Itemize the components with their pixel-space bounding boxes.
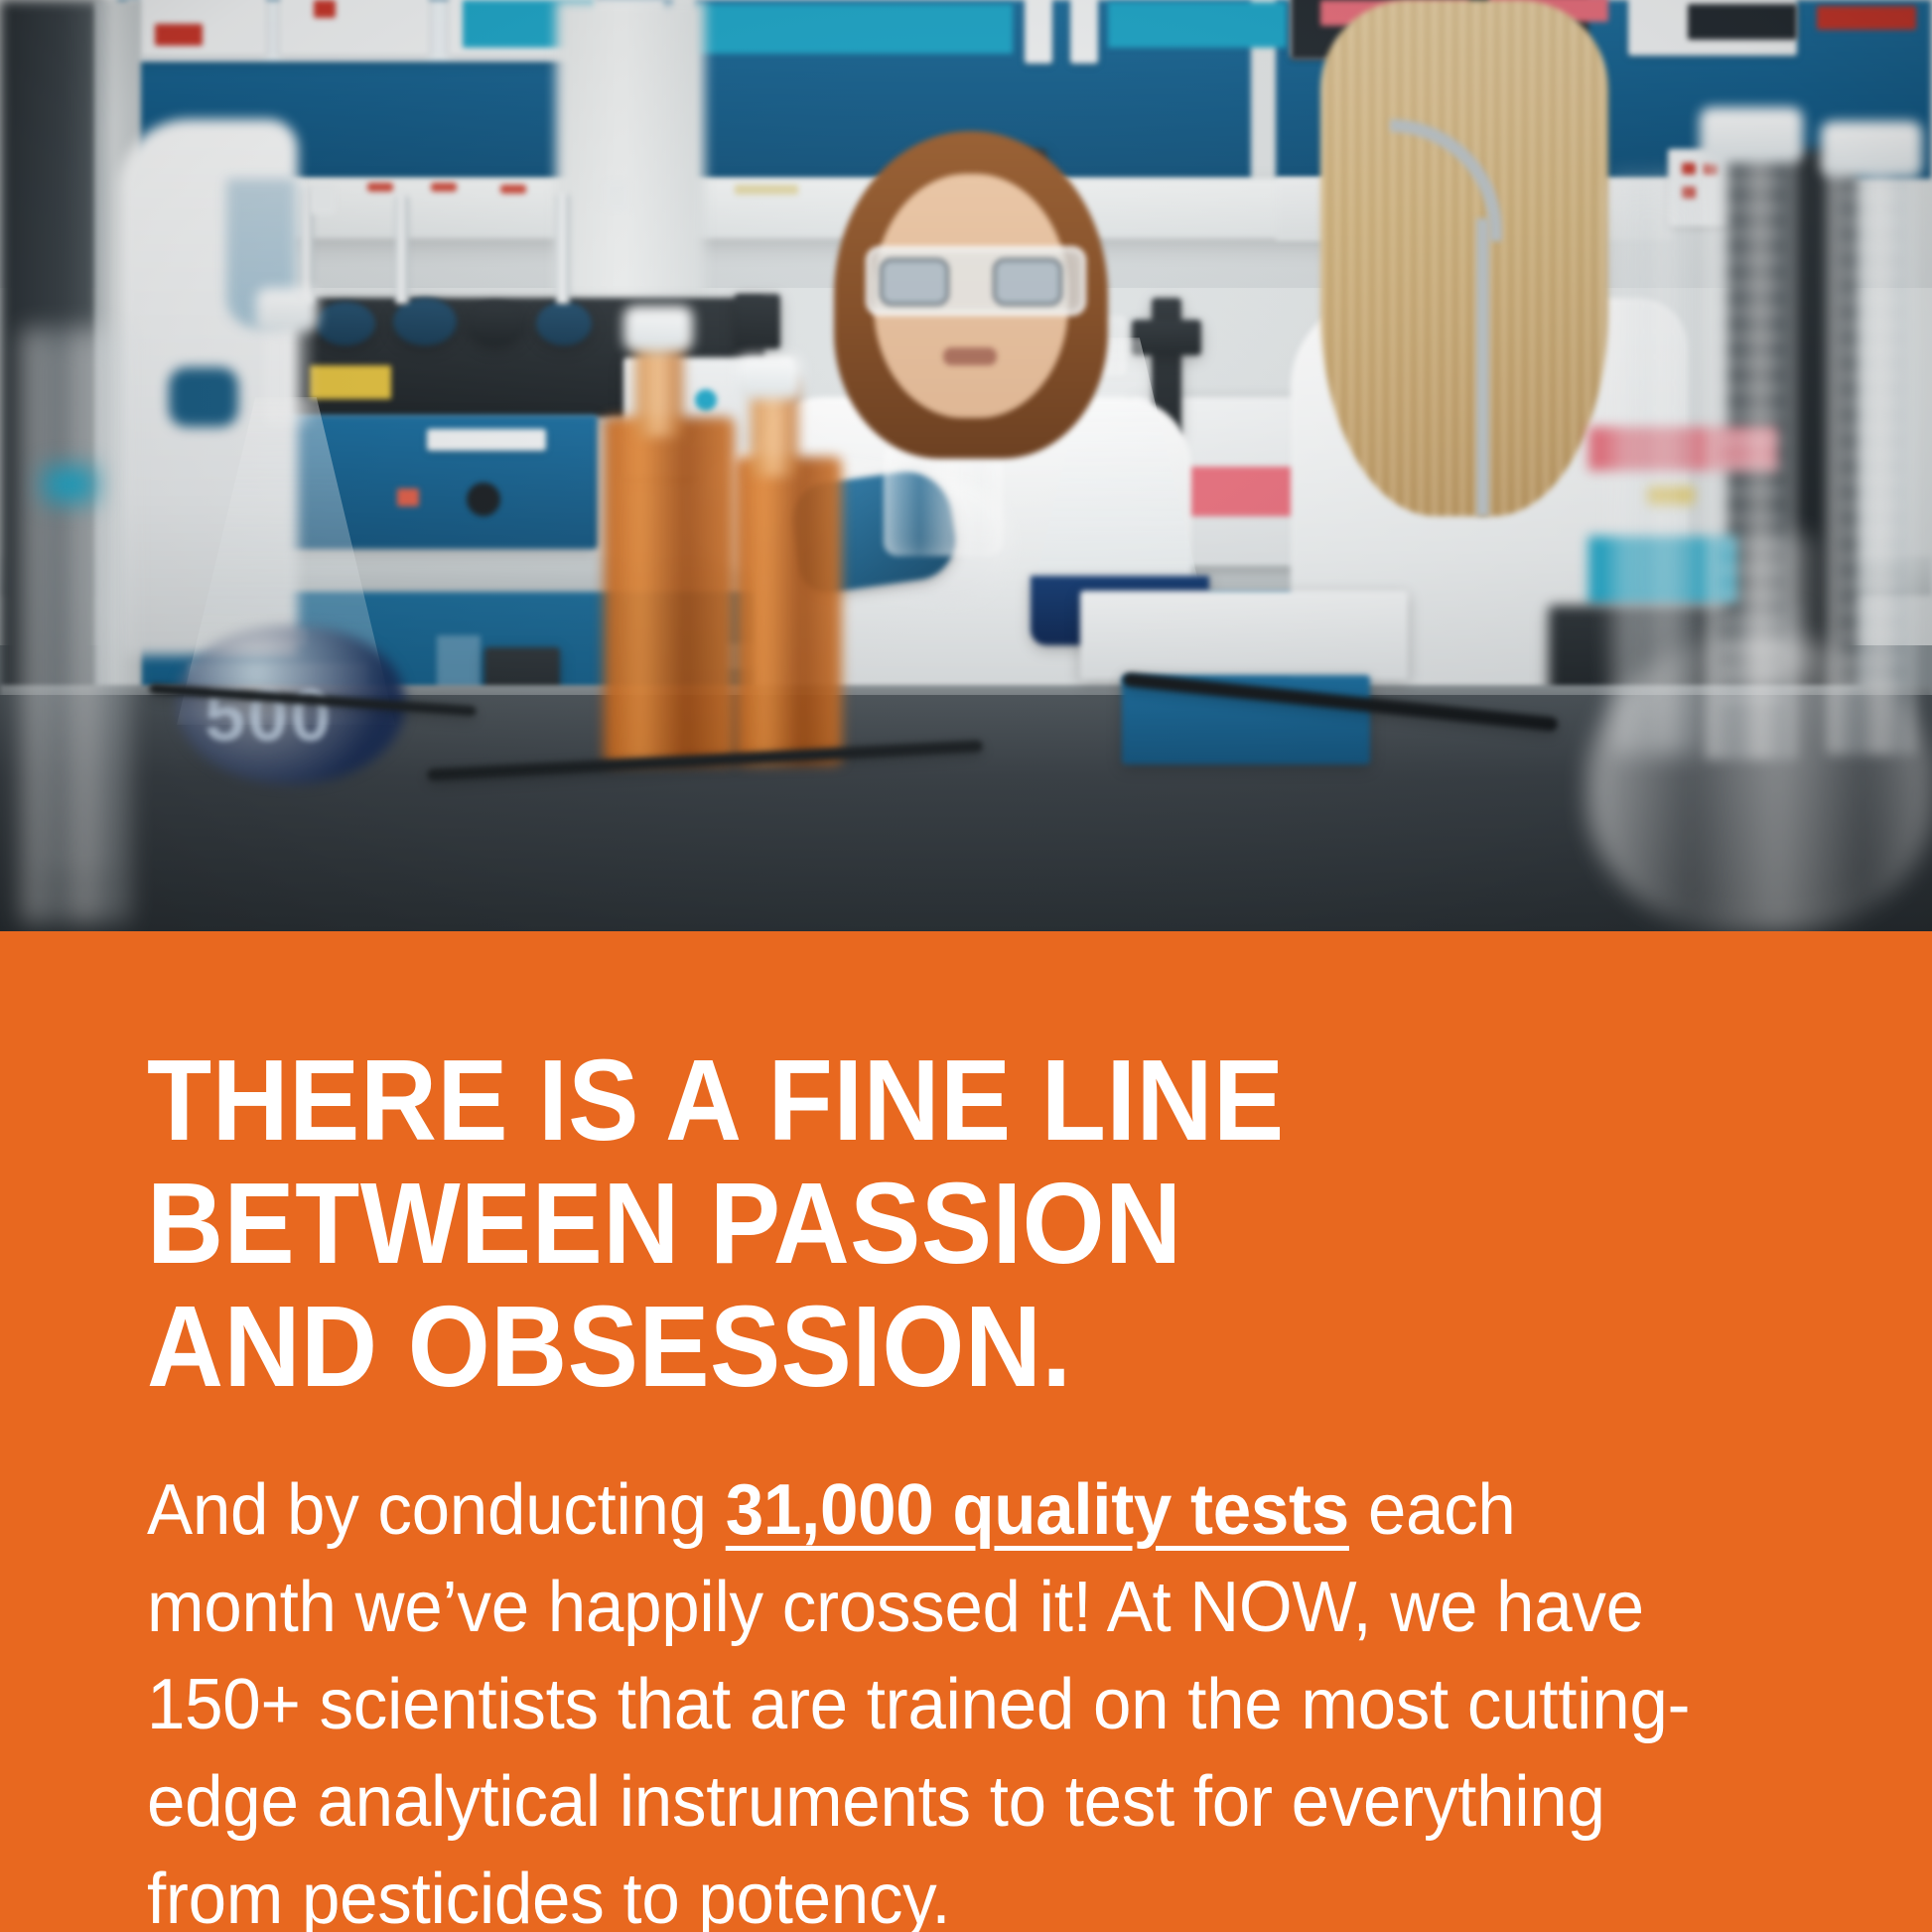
amber-flask-2: [735, 457, 842, 764]
sample-tube-3: [556, 193, 570, 304]
instrument-dial: [467, 483, 500, 516]
volumetric-flask-stopper: [256, 288, 318, 332]
cabinet-red-item: [1817, 6, 1916, 30]
cabinet-red-label-1: [155, 24, 203, 46]
headline-line-3: AND OBSESSION.: [147, 1285, 1663, 1408]
laboratory-photo: 500: [0, 0, 1932, 931]
cylinder-left-teal-mark: [44, 467, 95, 502]
eyeglass-lens-left: [880, 258, 949, 306]
graduated-cylinder-1-cap: [1700, 107, 1803, 163]
cabinet-teal-panel-3: [1108, 2, 1287, 48]
cabinet-tube-1: [1025, 0, 1052, 64]
cabinet-tube-2: [1070, 0, 1098, 64]
round-bottom-flask-neck: [1747, 536, 1813, 675]
headline-line-1: THERE IS A FINE LINE: [147, 1038, 1663, 1162]
marketing-poster: 500: [0, 0, 1932, 1932]
instrument-knob-blue-1: [316, 302, 375, 345]
cabinet-red-label-2: [314, 0, 336, 18]
valance-tab-1: [735, 185, 798, 195]
sample-tube-1: [395, 195, 409, 304]
instrument-display: [427, 429, 546, 451]
instrument-probe-head: [735, 294, 780, 349]
instrument-power-led: [397, 488, 419, 506]
tube-cap-red-2: [431, 183, 457, 192]
instrument-knob-blue-2: [393, 298, 457, 345]
amber-flask-stopper-1: [623, 306, 693, 351]
beaker-held: [884, 447, 1003, 556]
lab-faucet-stem: [1476, 218, 1489, 516]
orange-content-panel: THERE IS A FINE LINE BETWEEN PASSION AND…: [0, 931, 1932, 1932]
body-text-before-emphasis: And by conducting: [147, 1470, 726, 1550]
amber-flask-1: [604, 417, 735, 764]
body-paragraph: And by conducting 31,000 quality tests e…: [147, 1461, 1710, 1932]
tube-cap-red-1: [367, 183, 393, 192]
lab-worker-left-glove: [169, 367, 238, 427]
wall-switch-led-1: [1682, 163, 1696, 175]
flask-volume-label: 500: [205, 673, 333, 758]
tube-cap-2: [604, 181, 629, 210]
volumetric-flask-neck: [266, 316, 310, 425]
scientist-right-hair: [1320, 0, 1608, 516]
scientist-center-mouth: [943, 347, 997, 365]
instrument-knob-dark-1: [467, 302, 524, 345]
instrument-yellow-panel: [310, 365, 391, 399]
instrument-knob-blue-3: [536, 302, 592, 345]
tube-cap-1: [310, 185, 336, 214]
amber-flask-stopper-2: [737, 355, 802, 399]
headline-line-2: BETWEEN PASSION: [147, 1162, 1663, 1285]
quality-tests-emphasis: 31,000 quality tests: [726, 1470, 1349, 1550]
graduated-cylinder-2-cap: [1821, 121, 1922, 177]
cabinet-dark-item: [1688, 4, 1797, 40]
graduated-cylinder-left: [22, 328, 129, 923]
eyeglass-lens-right: [993, 258, 1062, 306]
analytical-balance-top: [1080, 591, 1408, 680]
round-bottom-flask-foreground: [1588, 635, 1932, 931]
cabinet-box-2: [280, 0, 429, 56]
page-title: THERE IS A FINE LINE BETWEEN PASSION AND…: [147, 1038, 1663, 1408]
tube-cap-red-3: [500, 185, 526, 194]
instrument-teal-indicator: [695, 389, 717, 411]
cabinet-teal-panel-2: [695, 4, 1013, 54]
